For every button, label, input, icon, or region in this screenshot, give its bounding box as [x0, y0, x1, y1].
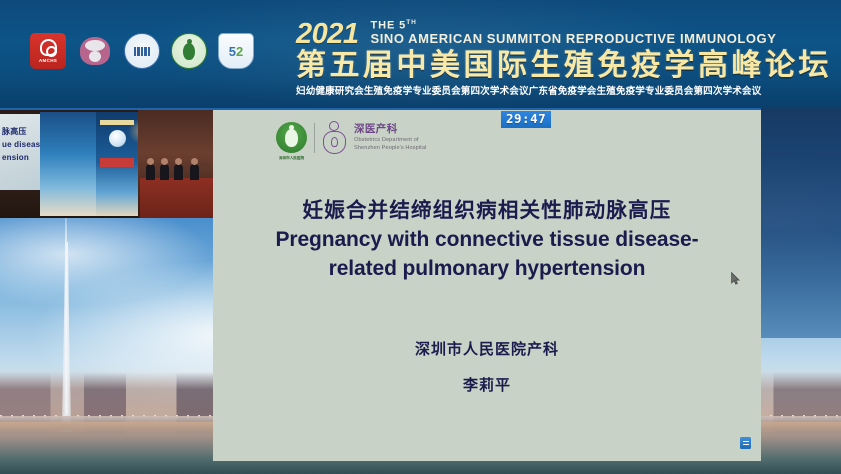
presenter-organization: 深圳市人民医院产科 [233, 338, 741, 359]
mouse-cursor [731, 272, 740, 285]
slide-header-logos: 深圳市人民医院 深医产科 Obstetrics Department of Sh… [276, 121, 426, 154]
baby-shape [331, 137, 338, 147]
poster-orb [109, 130, 126, 147]
department-text-block: 深医产科 Obstetrics Department of Shenzhen P… [354, 124, 426, 151]
session-countdown-timer: 29:47 [501, 111, 551, 128]
department-name-en-line1: Obstetrics Department of [354, 137, 426, 143]
slide-title-en-line2: related pulmonary hypertension [233, 255, 741, 282]
banner-text-block: 2021 THE 5TH SINO AMERICAN SUMMITON REPR… [296, 20, 841, 97]
presentation-stage: 脉高压 ue disease- ension AMCHS [0, 0, 841, 474]
slide-title-block: 妊娠合并结缔组织病相关性肺动脉高压 Pregnancy with connect… [233, 198, 741, 282]
event-english-title: SINO AMERICAN SUMMITON REPRODUCTIVE IMMU… [371, 32, 777, 46]
pink-emblem-mark [80, 37, 110, 65]
right-sky-panel [761, 108, 841, 338]
presenter-name: 李莉平 [233, 374, 741, 395]
slide-title-cn: 妊娠合并结缔组织病相关性肺动脉高压 [233, 198, 741, 224]
panelist [146, 164, 155, 180]
sponsor-logo-row: AMCHS 52 [30, 33, 254, 69]
department-name-cn: 深医产科 [354, 124, 426, 136]
slide-presenter-block: 深圳市人民医院产科 李莉平 [233, 338, 741, 395]
shenzhen-hospital-emblem-icon: 深圳市人民医院 [276, 122, 307, 153]
presentation-slide[interactable]: 深圳市人民医院 深医产科 Obstetrics Department of Sh… [213, 110, 761, 461]
amchs-caption: AMCHS [39, 58, 57, 63]
tower-body [60, 242, 73, 432]
panelist [190, 164, 199, 180]
conference-hall-video-feed[interactable]: 脉高压 ue disease- ension [0, 110, 214, 218]
panelist [174, 164, 183, 180]
slide-title-en-line1: Pregnancy with connective tissue disease… [233, 226, 741, 253]
mother-head [329, 121, 339, 131]
poster-red-bar [100, 158, 134, 167]
shield-mark: 52 [229, 45, 243, 58]
tower-mast [65, 213, 67, 247]
white-shield-logo: 52 [218, 33, 254, 69]
event-chinese-title: 第五届中美国际生殖免疫学高峰论坛 [296, 49, 841, 83]
amchs-logo: AMCHS [30, 33, 66, 69]
banner-top-line: 2021 THE 5TH SINO AMERICAN SUMMITON REPR… [296, 20, 841, 48]
mother-and-child-icon [322, 121, 347, 154]
canton-tower [51, 214, 81, 432]
institute-columns-mark [134, 47, 151, 56]
event-english-name: THE 5TH SINO AMERICAN SUMMITON REPRODUCT… [371, 20, 777, 48]
hall-banner-panel [40, 112, 96, 216]
pink-emblem-logo [77, 33, 113, 69]
hospital-figure-mark [183, 43, 195, 60]
emblem-figure [285, 129, 298, 147]
slide-badge-icon[interactable] [740, 437, 751, 449]
event-year: 2021 [296, 21, 359, 47]
logo-divider [314, 123, 315, 153]
event-header-banner: AMCHS 52 2021 THE 5TH SINO AMERICAN SUMM… [0, 0, 841, 108]
edition-ordinal-suffix: TH [406, 19, 416, 26]
hall-screen-line-3: ension [2, 153, 29, 162]
blue-circle-institute-logo [124, 33, 160, 69]
event-chinese-subtitle: 妇幼健康研究会生殖免疫学专业委员会第四次学术会议广东省免疫学会生殖免疫学专业委员… [296, 83, 841, 97]
amchs-mark [40, 39, 57, 56]
department-name-en-line2: Shenzhen People's Hospital [354, 145, 426, 151]
emblem-caption: 深圳市人民医院 [276, 156, 307, 161]
green-circle-hospital-logo [171, 33, 207, 69]
panel-table [140, 178, 214, 218]
hall-screen-line-1: 脉高压 [2, 126, 27, 137]
panelist [160, 164, 169, 180]
